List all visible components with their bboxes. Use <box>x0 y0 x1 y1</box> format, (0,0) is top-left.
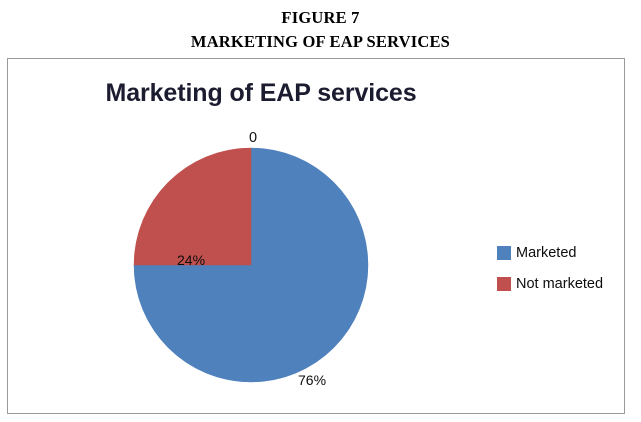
pie-label-marketed: 76% <box>298 372 326 388</box>
pie-label-zero: 0 <box>249 130 257 146</box>
figure-caption: MARKETING OF EAP SERVICES <box>0 30 641 54</box>
legend-item-marketed[interactable]: Marketed <box>497 237 622 268</box>
pie-chart <box>130 144 372 386</box>
chart-legend: Marketed Not marketed <box>497 237 622 299</box>
figure-heading: FIGURE 7 MARKETING OF EAP SERVICES <box>0 6 641 54</box>
legend-swatch-icon-not-marketed <box>497 277 511 291</box>
legend-label-marketed: Marketed <box>516 245 576 261</box>
pie-label-not-marketed: 24% <box>177 252 205 268</box>
figure-number: FIGURE 7 <box>0 6 641 30</box>
legend-item-not-marketed[interactable]: Not marketed <box>497 268 622 299</box>
legend-swatch-icon-marketed <box>497 246 511 260</box>
chart-container: Marketing of EAP services 0 24% 76% Mark… <box>7 58 625 414</box>
legend-label-not-marketed: Not marketed <box>516 276 603 292</box>
pie-slice-not-marketed[interactable] <box>134 148 251 265</box>
